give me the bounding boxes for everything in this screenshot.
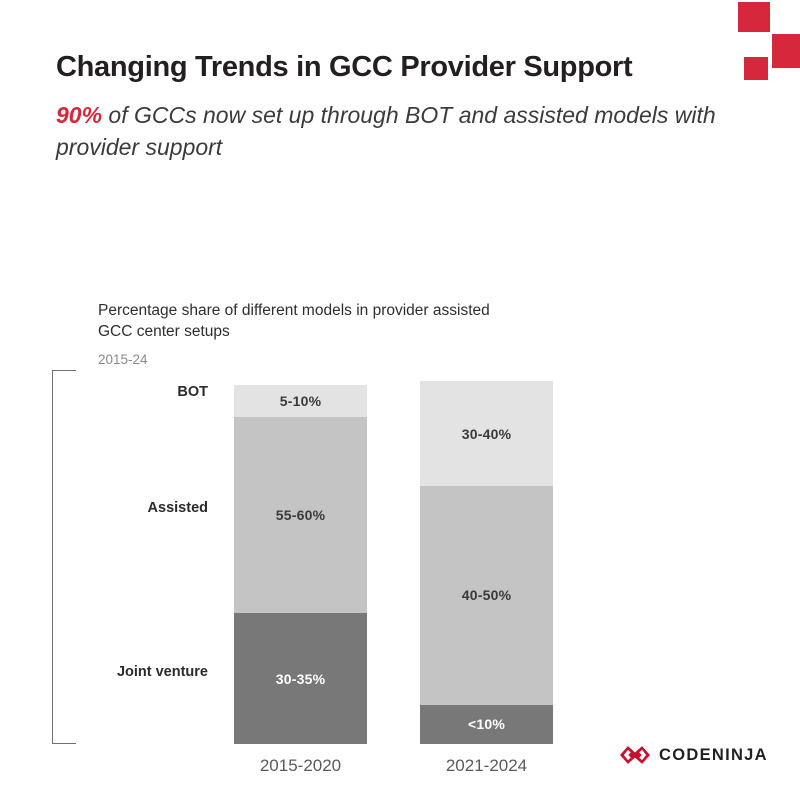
bar-segment-joint-venture[interactable]: 30-35% [234,613,367,744]
red-square-top [738,2,770,32]
x-tick-label-1: 2021-2024 [420,756,553,776]
code-brackets-diamond-icon [620,744,650,766]
x-tick-label-0: 2015-2020 [234,756,367,776]
subtitle-text: of GCCs now set up through BOT and assis… [56,102,716,161]
chart-heading: Percentage share of different models in … [98,300,528,343]
bar-segment-bot[interactable]: 5-10% [234,385,367,417]
bar-segment-value: 40-50% [462,587,511,603]
bar-segment-value: 30-35% [276,671,325,687]
red-square-right [772,34,800,68]
bar-segment-value: <10% [468,716,505,732]
bar-segment-assisted[interactable]: 40-50% [420,486,553,705]
highlight-stat: 90% [56,102,102,128]
chart-period-label: 2015-24 [98,352,148,367]
stacked-bar-2021-2024[interactable]: 30-40%40-50%<10% [420,381,553,744]
headline-block: Changing Trends in GCC Provider Support … [56,50,736,164]
infographic-canvas: Changing Trends in GCC Provider Support … [0,0,800,800]
red-square-bottom [744,57,768,80]
page-subtitle: 90% of GCCs now set up through BOT and a… [56,99,716,164]
brand-logo-text: CODENINJA [659,746,768,765]
bar-segment-bot[interactable]: 30-40% [420,381,553,486]
bars-area: 5-10%55-60%30-35% 30-40%40-50%<10% [0,370,800,744]
bar-segment-assisted[interactable]: 55-60% [234,417,367,613]
bar-segment-value: 30-40% [462,426,511,442]
chart-container: Percentage share of different models in … [0,290,800,800]
brand-logo: CODENINJA [620,744,768,766]
stacked-bar-2015-2020[interactable]: 5-10%55-60%30-35% [234,385,367,744]
bar-segment-value: 5-10% [280,393,321,409]
bar-segment-value: 55-60% [276,507,325,523]
bar-segment-joint-venture[interactable]: <10% [420,705,553,744]
page-title: Changing Trends in GCC Provider Support [56,50,736,85]
